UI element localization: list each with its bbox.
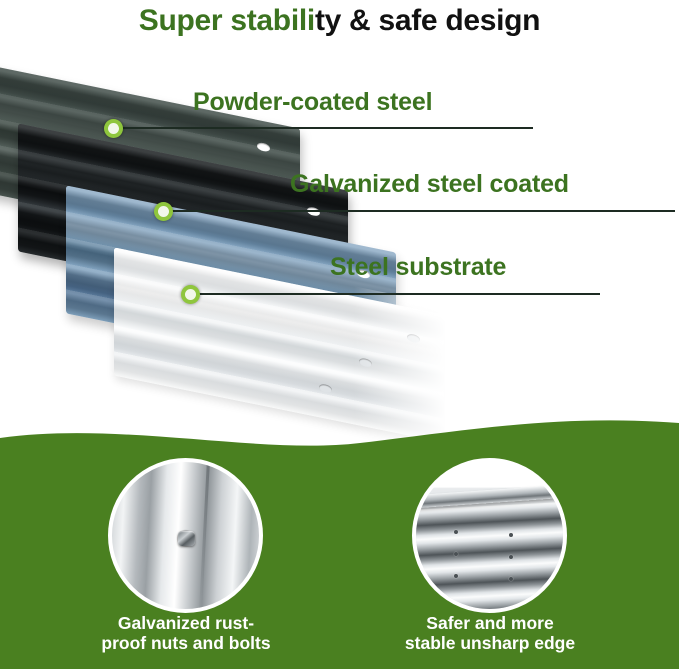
callout-label-steel-substrate: Steel substrate	[330, 253, 506, 282]
callout-line-galvanized	[163, 210, 675, 212]
callout-line-steel-substrate	[190, 293, 600, 295]
product-infographic: Super stability & safe design	[0, 0, 679, 669]
callout-marker-galvanized	[154, 202, 173, 221]
page-title: Super stability & safe design	[0, 0, 679, 46]
feature-caption-galvanized-bolt: Galvanized rust- proof nuts and bolts	[72, 613, 300, 653]
callout-marker-powder-coated	[104, 119, 123, 138]
panel-seam	[199, 458, 211, 613]
callout-label-galvanized: Galvanized steel coated	[290, 170, 569, 199]
bolt-head-icon	[178, 531, 195, 546]
callout-line-powder-coated	[113, 127, 533, 129]
rivet-group	[416, 462, 563, 609]
callout-label-powder-coated: Powder-coated steel	[193, 88, 432, 117]
feature-image-safe-edge	[412, 458, 567, 613]
feature-caption-safe-edge: Safer and more stable unsharp edge	[376, 613, 604, 653]
title-black-part: ty & safe design	[315, 4, 540, 37]
callout-marker-steel-substrate	[181, 285, 200, 304]
feature-image-galvanized-bolt	[108, 458, 263, 613]
title-green-part: Super stabili	[139, 4, 315, 37]
